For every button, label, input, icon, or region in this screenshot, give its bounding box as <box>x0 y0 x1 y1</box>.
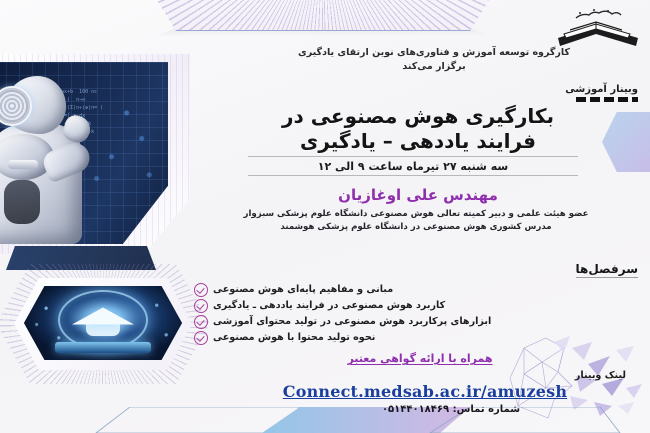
presenter-name: مهندس علی اوغازیان <box>198 186 638 204</box>
webinar-link-label: لینک وبینار <box>575 370 626 381</box>
humanoid-robot-with-data-screen-image: f(x)=ax+b 100 nc A0 = ( n→∞ (Σn⊗)n⊂(Σ)n÷… <box>0 62 168 244</box>
check-circle-icon <box>194 315 208 329</box>
page-title: بکارگیری هوش مصنوعی در فرایند یاددهی – ی… <box>198 104 638 154</box>
list-item: نحوه تولید محتوا با هوش مصنوعی <box>194 330 640 346</box>
graduation-cap-hologram-image <box>24 286 182 360</box>
organizer-line-2: برگزار می‌کند <box>234 60 634 74</box>
webinar-kicker-label: وبینار آموزشی <box>565 84 638 95</box>
check-circle-icon <box>194 283 208 297</box>
presenter-role: عضو هیئت علمی و دبیر کمیته تعالی هوش مصن… <box>192 208 640 234</box>
topics-heading: سرفصل‌ها <box>576 262 638 278</box>
date-time-text: سه شنبه ۲۷ تیرماه ساعت ۹ الی ۱۲ <box>248 156 578 176</box>
title-line-1: بکارگیری هوش مصنوعی در <box>198 104 638 129</box>
organizer-line-1: کارگروه توسعه آموزش و فناوری‌های نوین ار… <box>234 46 634 60</box>
certificate-note: همراه با ارائه گواهی معتبر <box>270 352 570 365</box>
topic-label: ابزارهای پرکاربرد هوش مصنوعی در تولید مح… <box>213 314 491 330</box>
poster-content: کارگروه توسعه آموزش و فناوری‌های نوین ار… <box>186 0 650 433</box>
check-circle-icon <box>194 299 208 313</box>
webinar-link-url[interactable]: Connect.medsab.ac.ir/amuzesh <box>210 382 640 401</box>
graduation-cap-base <box>86 323 120 336</box>
check-circle-icon <box>194 331 208 345</box>
robot-chest-vent <box>4 180 40 224</box>
webinar-poster: f(x)=ax+b 100 nc A0 = ( n→∞ (Σn⊗)n⊂(Σ)n÷… <box>0 0 650 433</box>
graduation-cap-icon <box>72 307 134 324</box>
presenter-role-line-2: مدرس کشوری هوش مصنوعی در دانشگاه علوم پز… <box>192 221 640 234</box>
topic-label: مبانی و مفاهیم پایه‌ای هوش مصنوعی <box>213 282 393 298</box>
topic-label: نحوه تولید محتوا با هوش مصنوعی <box>213 330 375 346</box>
topics-list: مبانی و مفاهیم پایه‌ای هوش مصنوعی کاربرد… <box>194 282 640 346</box>
robot-shoulder-panel <box>8 160 38 169</box>
contact-phone: شماره تماس: ۰۵۱۴۴۰۱۸۴۶۹ <box>276 404 626 415</box>
open-book-logo-icon <box>550 4 646 50</box>
topic-label: کاربرد هوش مصنوعی در فرایند یاددهی ـ یاد… <box>213 298 445 314</box>
hologram-base-bar <box>55 342 151 353</box>
list-item: ابزارهای پرکاربرد هوش مصنوعی در تولید مح… <box>194 314 640 330</box>
list-item: مبانی و مفاهیم پایه‌ای هوش مصنوعی <box>194 282 640 298</box>
robot-figure <box>0 72 94 244</box>
dashed-rule-decoration <box>576 97 638 102</box>
presenter-role-line-1: عضو هیئت علمی و دبیر کمیته تعالی هوش مصن… <box>192 208 640 221</box>
list-item: کاربرد هوش مصنوعی در فرایند یاددهی ـ یاد… <box>194 298 640 314</box>
title-line-2: فرایند یاددهی – یادگیری <box>198 129 638 154</box>
organizer-text: کارگروه توسعه آموزش و فناوری‌های نوین ار… <box>234 46 634 74</box>
